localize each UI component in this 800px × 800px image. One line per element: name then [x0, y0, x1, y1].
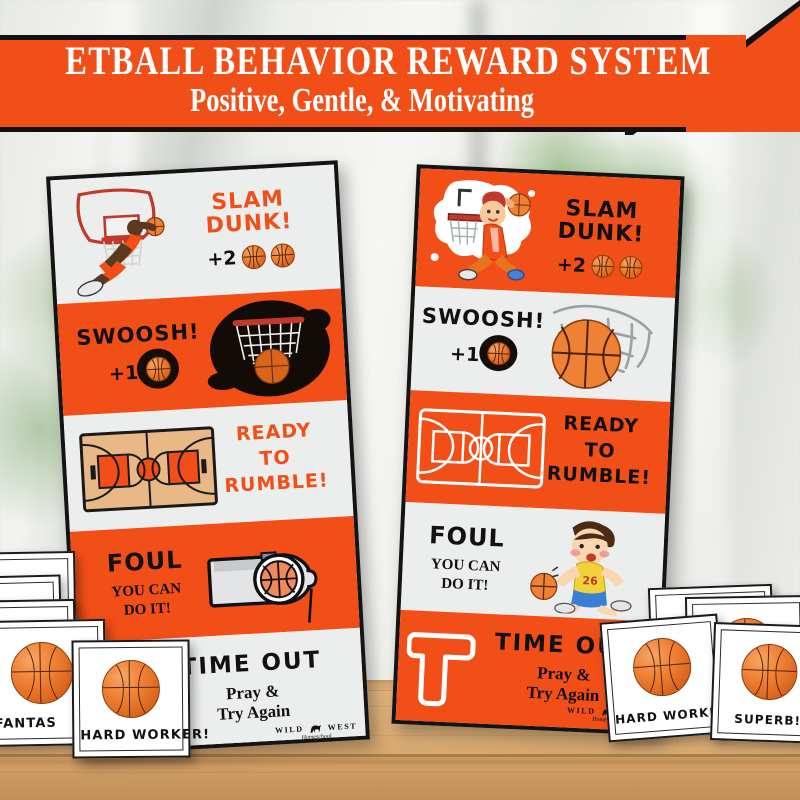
time-out-subtitle: Pray & Try Again: [165, 678, 342, 727]
basketball-icon: [270, 243, 295, 268]
ready-line-3: RUMBLE!: [536, 461, 661, 492]
swoosh-points: +1: [420, 339, 541, 372]
poster-left-swoosh-text-block: SWOOSH! +1: [72, 320, 205, 391]
reward-card[interactable]: SUPERB!: [710, 622, 800, 744]
basketball-icon: [590, 254, 614, 278]
foul-subtitle: YOU CAN DO IT!: [87, 578, 207, 622]
poster-right-ready-text-block: READY TO RUMBLE!: [536, 410, 663, 492]
basketball-icon: [145, 356, 171, 382]
basketball-icon: [241, 245, 266, 270]
logo-word-right: WEST: [327, 721, 357, 732]
reward-card[interactable]: HARD WORKER!: [599, 614, 726, 743]
ball-through-net-icon: [529, 294, 673, 400]
swoosh-points: +1: [74, 354, 205, 391]
wild-west-homeschool-logo: WILD WEST Homeschool: [275, 722, 358, 743]
foul-subtitle: YOU CAN DO IT!: [409, 554, 521, 596]
swoosh-points-value: +1: [108, 362, 138, 386]
screenshot-stage: ETBALL BEHAVIOR REWARD SYSTEM Positive, …: [0, 0, 800, 800]
logo-word-left: WILD: [567, 705, 596, 715]
slam-dunk-title: SLAM DUNK!: [525, 195, 677, 248]
swoosh-title: SWOOSH!: [72, 320, 203, 349]
hoop-ink-splatter-icon: [189, 288, 345, 408]
basketball-icon: [631, 636, 693, 698]
svg-text:26: 26: [582, 574, 598, 588]
slam-dunk-title: SLAM DUNK!: [167, 185, 329, 240]
poster-right-foul-text-block: FOUL YOU CAN DO IT!: [409, 520, 522, 596]
poster-right-row-ready: READY TO RUMBLE!: [406, 390, 671, 514]
poster-left-row-slam-dunk: SLAM DUNK! +2: [50, 165, 340, 305]
horse-icon: [309, 724, 322, 734]
reward-card-label: HARD WORKER!: [80, 728, 182, 744]
swoosh-title: SWOOSH!: [421, 305, 542, 332]
foul-title: FOUL: [411, 520, 522, 553]
swoosh-points-value: +1: [450, 343, 480, 366]
slam-dunk-points: +2: [170, 241, 331, 274]
poster-left-row-ready: READY TO RUMBLE!: [63, 400, 353, 532]
poster-left-row-foul: FOUL YOU CAN DO IT!: [70, 516, 360, 644]
foul-title: FOUL: [85, 544, 204, 579]
basketball-court-outline-icon: [414, 407, 547, 491]
poster-left-ready-text-block: READY TO RUMBLE!: [208, 417, 342, 501]
whistle-icon: [198, 524, 353, 632]
poster-left-slam-text-block: SLAM DUNK! +2: [167, 185, 331, 274]
poster-right-slam-text-block: SLAM DUNK! +2: [524, 195, 677, 281]
poster-right-row-slam-dunk: SLAM DUNK! +2: [415, 168, 680, 298]
basketball-icon: [10, 641, 73, 704]
page-title: ETBALL BEHAVIOR REWARD SYSTEM: [65, 41, 659, 81]
poster-right-swoosh-text-block: SWOOSH! +1: [420, 305, 543, 372]
poster-left-foul-text-block: FOUL YOU CAN DO IT!: [85, 544, 207, 622]
cartoon-dribbling-boy-icon: 26: [517, 511, 661, 617]
basketball-court-icon: [78, 426, 218, 513]
reward-card[interactable]: HARD WORKER!: [71, 639, 190, 758]
foul-subtitle-line-2: DO IT!: [409, 573, 520, 597]
poster-right-row-foul: 26 FOUL YOU CAN DO IT!: [401, 502, 666, 622]
header-banner: ETBALL BEHAVIOR REWARD SYSTEM Positive, …: [0, 0, 800, 140]
time-out-hand-signal-icon: [404, 622, 482, 713]
basketball-icon: [740, 643, 798, 701]
page-subtitle: Positive, Gentle, & Motivating: [80, 84, 645, 118]
reward-card-label: SUPERB!: [718, 711, 800, 728]
poster-right-row-swoosh: SWOOSH! +1: [411, 286, 675, 402]
reward-card-label: HARD WORKER!: [615, 705, 718, 727]
poster-left-row-swoosh: SWOOSH! +1: [57, 288, 347, 416]
basketball-icon: [102, 660, 161, 719]
slam-dunk-points-value: +2: [556, 253, 586, 276]
slam-dunk-points-value: +2: [207, 247, 237, 271]
basketball-icon: [487, 342, 511, 366]
logo-word-left: WILD: [275, 724, 304, 735]
basketball-icon: [618, 256, 642, 280]
